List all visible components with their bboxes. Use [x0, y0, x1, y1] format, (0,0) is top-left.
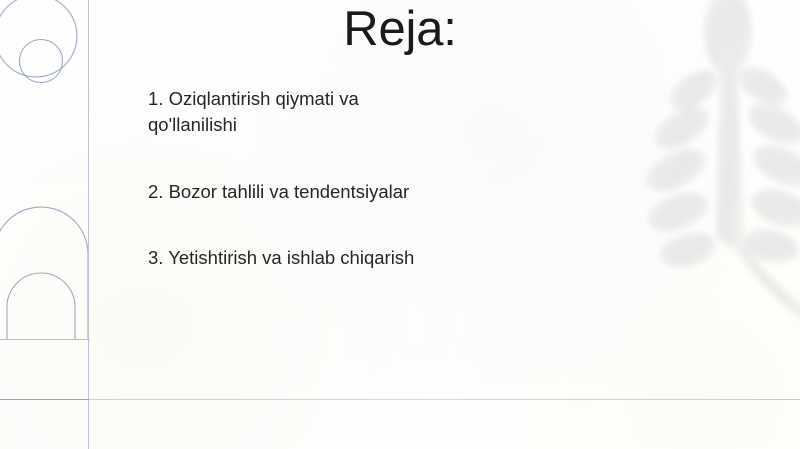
deco-arch-inner: [7, 273, 75, 340]
vertical-rule: [88, 0, 89, 449]
short-horizontal-rule: [0, 339, 90, 340]
long-horizontal-rule: [0, 399, 800, 400]
slide-title: Reja:: [0, 4, 800, 55]
agenda-item-3: 3. Yetishtirish va ishlab chiqarish: [148, 245, 548, 271]
circles-and-arches-line-art: [0, 0, 130, 449]
agenda-item-1: 1. Oziqlantirish qiymati va qo'llanilish…: [148, 86, 548, 139]
agenda-item-2: 2. Bozor tahlili va tendentsiyalar: [148, 179, 548, 205]
agenda-list: 1. Oziqlantirish qiymati va qo'llanilish…: [148, 86, 548, 271]
deco-arch-outer: [0, 207, 88, 340]
slide-canvas: Reja: 1. Oziqlantirish qiymati va qo'lla…: [0, 0, 800, 449]
